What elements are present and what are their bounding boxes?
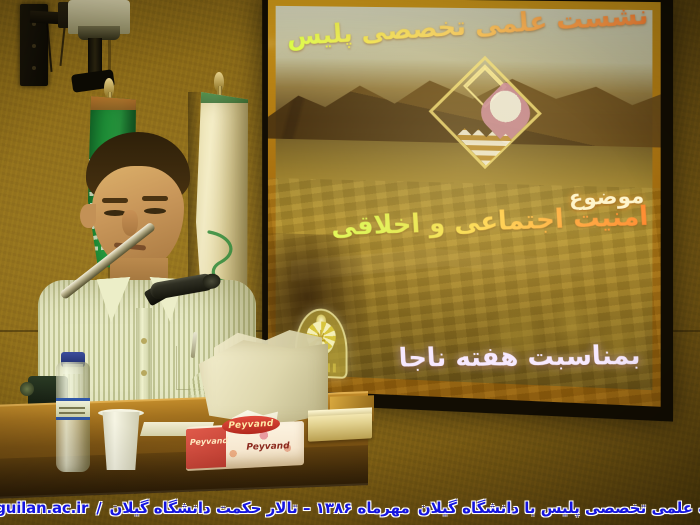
speaker-face [92,166,184,270]
tissue-brand-front: Peyvand [246,439,290,454]
tissue-box-side-panel [186,427,226,469]
speaker-brow-right [142,196,168,201]
shirt-button [141,370,147,376]
speaker-eye-right [144,208,166,214]
caption-event: نشست علمی تخصصی پلیس با دانشگاه گیلان [418,499,700,517]
speaker-brow-left [102,198,128,203]
caption-date-venue: مهرماه ۱۳۸۶ – تالار حکمت دانشگاه گیلان [110,499,410,517]
shirt-button [141,338,147,344]
bottle-label [56,398,90,420]
book [308,412,372,441]
slide-occasion: بمناسبت هفته ناجا [398,341,641,374]
caption-separator: / [96,499,101,517]
microphone-adjust-knob[interactable] [20,382,34,396]
caption-bar: نشست علمی تخصصی پلیس با دانشگاه گیلان مه… [0,491,700,525]
foam-cup [100,412,142,470]
speaker-ear [80,204,96,228]
screenshot-photo: نشست علمی تخصصی پلیس با دانشگاه موضوع ام… [0,0,700,525]
tissue-brand-side: Peyvand [192,435,226,448]
caption-url[interactable]: www.guilan.ac.ir [0,499,88,517]
